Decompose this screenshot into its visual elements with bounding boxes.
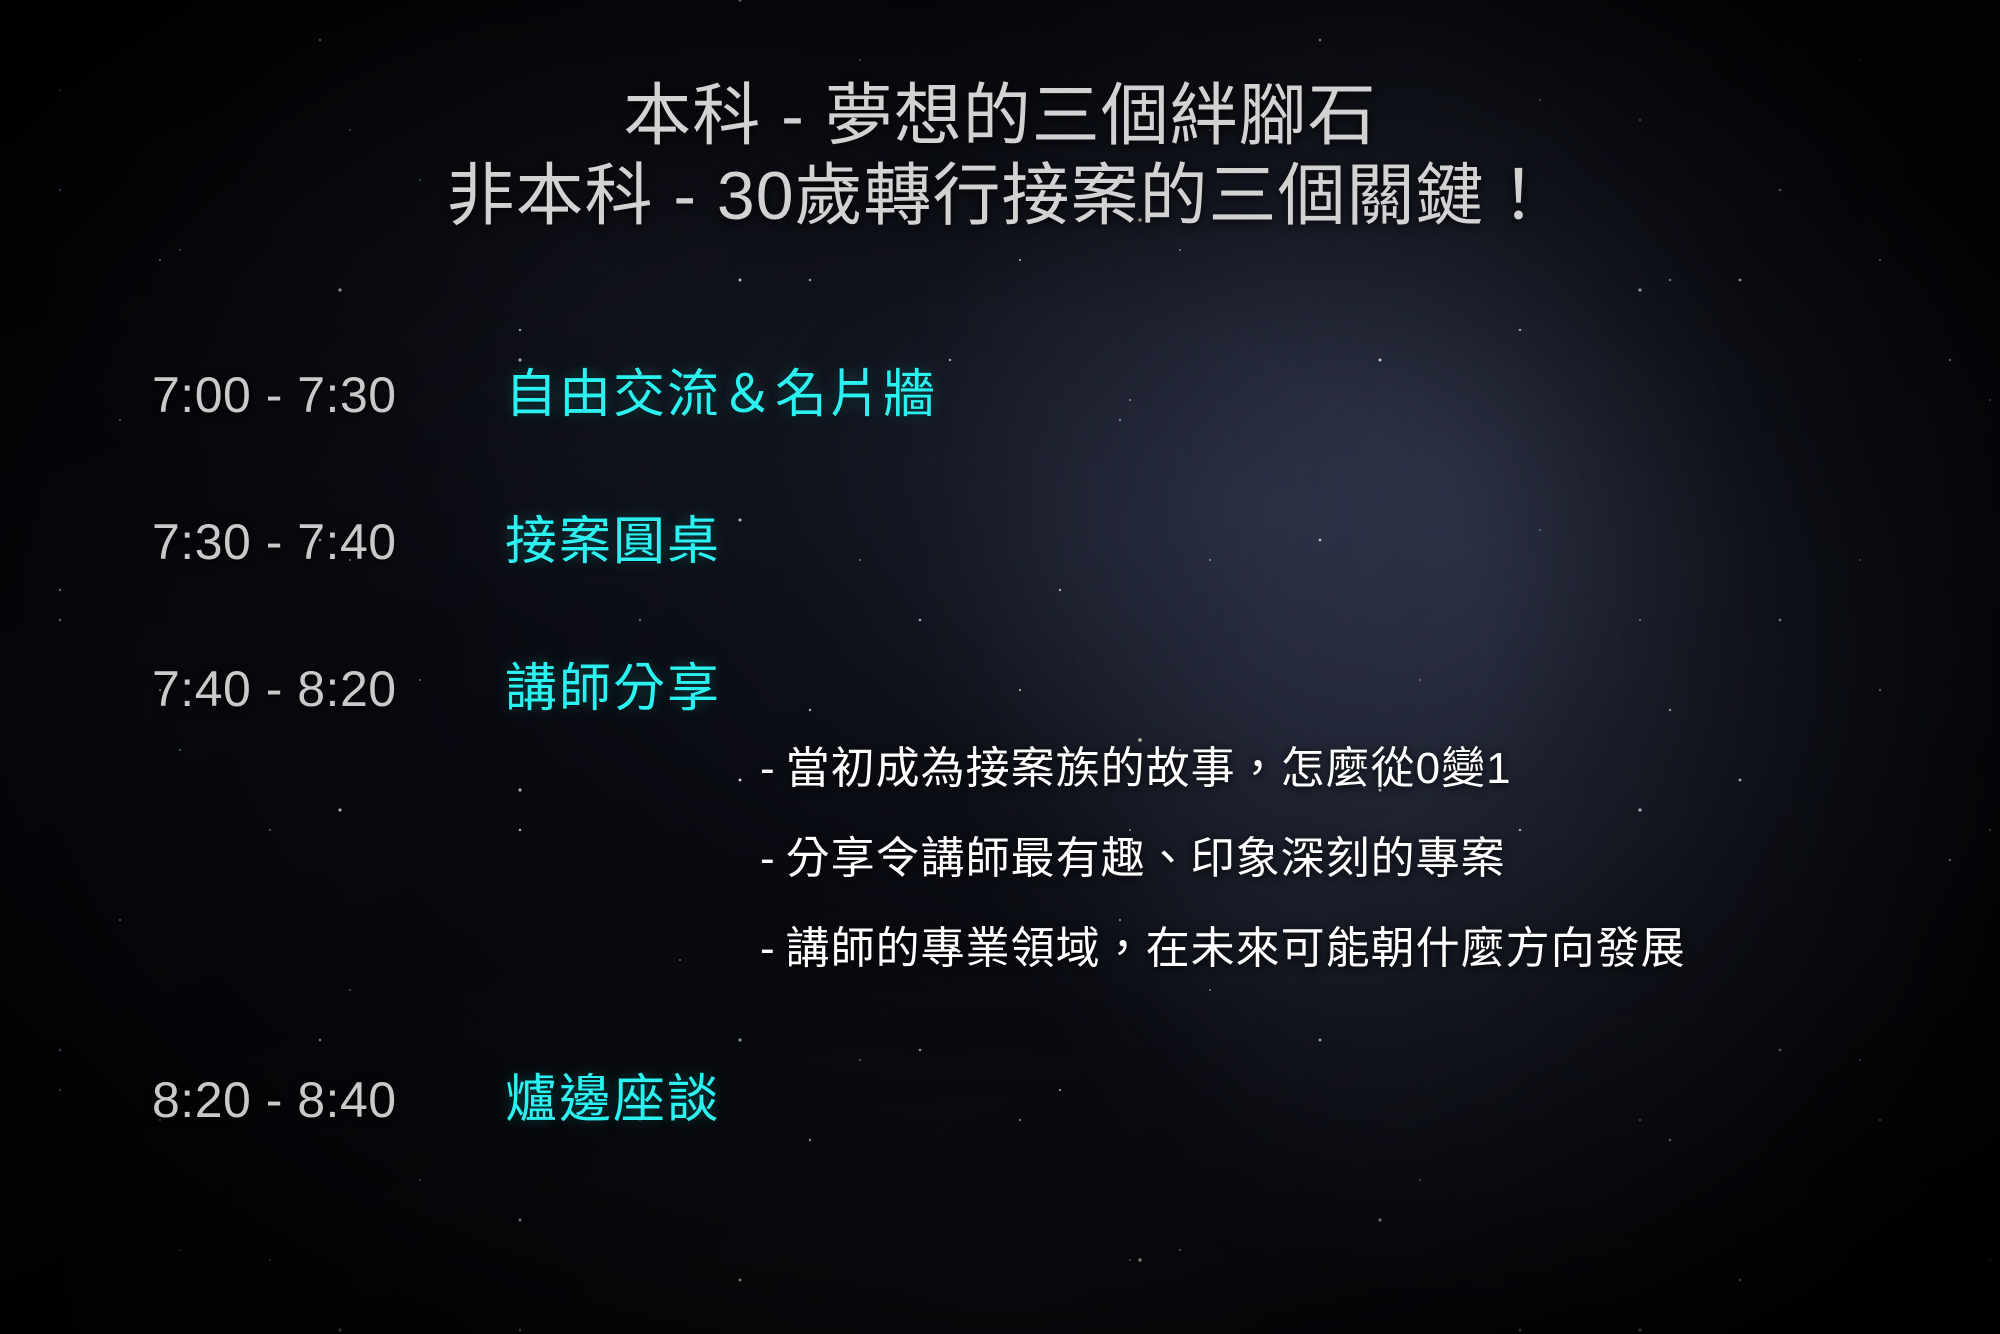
agenda-heading: 講師分享 — [505, 646, 721, 721]
agenda-sub-bullets: -當初成為接案族的故事，怎麼從0變1 -分享令講師最有趣、印象深刻的專案 -講師… — [0, 747, 2000, 971]
presentation-slide: 本科 - 夢想的三個絆腳石 非本科 - 30歲轉行接案的三個關鍵！ 7:00 -… — [0, 0, 2000, 1334]
bullet-dash: - — [760, 834, 776, 883]
agenda-row: 7:40 - 8:20 講師分享 — [0, 646, 2000, 721]
agenda-row: 7:00 - 7:30 自由交流＆名片牆 — [0, 352, 2000, 427]
slide-content: 本科 - 夢想的三個絆腳石 非本科 - 30歲轉行接案的三個關鍵！ 7:00 -… — [0, 0, 2000, 1334]
agenda-time: 8:20 - 8:40 — [0, 1071, 505, 1129]
bullet-text: 分享令講師最有趣、印象深刻的專案 — [786, 834, 1506, 883]
agenda-row: 7:30 - 7:40 接案圓桌 — [0, 499, 2000, 574]
list-item: -講師的專業領域，在未來可能朝什麼方向發展 — [760, 927, 2000, 971]
agenda-heading: 接案圓桌 — [505, 499, 721, 574]
bullet-dash: - — [760, 924, 776, 973]
bullet-text: 當初成為接案族的故事，怎麼從0變1 — [786, 744, 1512, 793]
title-line-2: 非本科 - 30歲轉行接案的三個關鍵！ — [0, 156, 2000, 236]
bullet-dash: - — [760, 744, 776, 793]
bullet-text: 講師的專業領域，在未來可能朝什麼方向發展 — [786, 924, 1686, 973]
agenda-row: 8:20 - 8:40 爐邊座談 — [0, 1057, 2000, 1132]
list-item: -當初成為接案族的故事，怎麼從0變1 — [760, 747, 2000, 791]
title-line-1: 本科 - 夢想的三個絆腳石 — [0, 76, 2000, 156]
slide-title: 本科 - 夢想的三個絆腳石 非本科 - 30歲轉行接案的三個關鍵！ — [0, 76, 2000, 236]
agenda-heading: 自由交流＆名片牆 — [505, 352, 937, 427]
agenda-time: 7:30 - 7:40 — [0, 513, 505, 571]
list-item: -分享令講師最有趣、印象深刻的專案 — [760, 837, 2000, 881]
agenda-time: 7:40 - 8:20 — [0, 660, 505, 718]
agenda-list: 7:00 - 7:30 自由交流＆名片牆 7:30 - 7:40 接案圓桌 7:… — [0, 352, 2000, 1132]
agenda-heading: 爐邊座談 — [505, 1057, 721, 1132]
agenda-time: 7:00 - 7:30 — [0, 366, 505, 424]
